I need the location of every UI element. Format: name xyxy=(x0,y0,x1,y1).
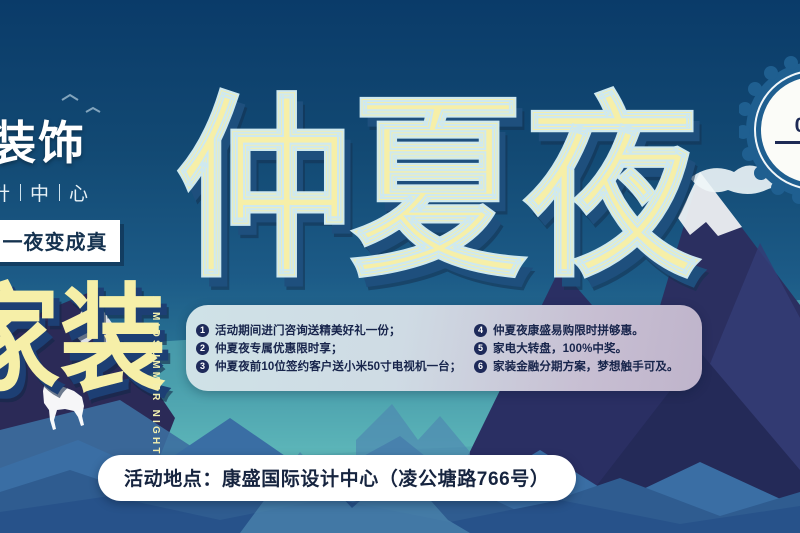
list-item: 6 家装金融分期方案，梦想触手可及。 xyxy=(474,358,692,374)
list-number: 4 xyxy=(474,324,487,337)
list-item: 5 家电大转盘，100%中奖。 xyxy=(474,340,692,356)
list-number: 5 xyxy=(474,342,487,355)
list-text: 家电大转盘，100%中奖。 xyxy=(493,340,627,356)
brand-subtitle: 設 計 中 心 xyxy=(0,179,192,206)
list-text: 仲夏夜前10位签约客户送小米50寸电视机一台； xyxy=(215,358,461,374)
list-text: 家装金融分期方案，梦想触手可及。 xyxy=(493,358,679,374)
list-item: 2 仲夏夜专属优惠限时享； xyxy=(196,340,474,356)
brand-tagline: 装梦 一夜变成真 xyxy=(0,220,120,262)
list-item: 3 仲夏夜前10位签约客户送小米50寸电视机一台； xyxy=(196,358,474,374)
date-seal-badge: ） 08/2 18: xyxy=(739,55,800,205)
list-item: 4 仲夏夜康盛易购限时拼够惠。 xyxy=(474,322,692,338)
list-number: 1 xyxy=(196,324,209,337)
list-number: 2 xyxy=(196,342,209,355)
list-item: 1 活动期间进门咨询送精美好礼一份； xyxy=(196,322,474,338)
headline-midsummer-night: 仲夏夜 xyxy=(176,92,698,289)
seal-date: 08/2 xyxy=(795,114,800,138)
big-word-home-decoration: 家装 xyxy=(0,282,166,399)
address-pill: 活动地点：康盛国际设计中心（凌公塘路766号） xyxy=(98,455,576,501)
list-text: 活动期间进门咨询送精美好礼一份； xyxy=(215,322,401,338)
vertical-english-label: A MIDSUMMER NIGHT xyxy=(150,296,161,457)
brand-sub-char-2: 中 xyxy=(21,179,59,206)
promo-poster: 盛装饰 設 計 中 心 装梦 一夜变成真 家装 仲夏夜 A MIDSUMMER … xyxy=(0,0,800,533)
benefits-column-left: 1 活动期间进门咨询送精美好礼一份； 2 仲夏夜专属优惠限时享； 3 仲夏夜前1… xyxy=(196,322,474,374)
brand-sub-char-1: 計 xyxy=(0,179,20,206)
list-text: 仲夏夜专属优惠限时享； xyxy=(215,340,343,356)
list-number: 6 xyxy=(474,360,487,373)
benefits-column-right: 4 仲夏夜康盛易购限时拼够惠。 5 家电大转盘，100%中奖。 6 家装金融分期… xyxy=(474,322,692,374)
brand-sub-char-3: 心 xyxy=(60,179,98,206)
list-text: 仲夏夜康盛易购限时拼够惠。 xyxy=(493,322,644,338)
list-number: 3 xyxy=(196,360,209,373)
benefits-bubble: 1 活动期间进门咨询送精美好礼一份； 2 仲夏夜专属优惠限时享； 3 仲夏夜前1… xyxy=(186,305,702,391)
brand-block: 盛装饰 設 計 中 心 装梦 一夜变成真 xyxy=(0,118,192,262)
brand-name: 盛装饰 xyxy=(0,118,192,168)
seal-divider xyxy=(775,141,800,144)
